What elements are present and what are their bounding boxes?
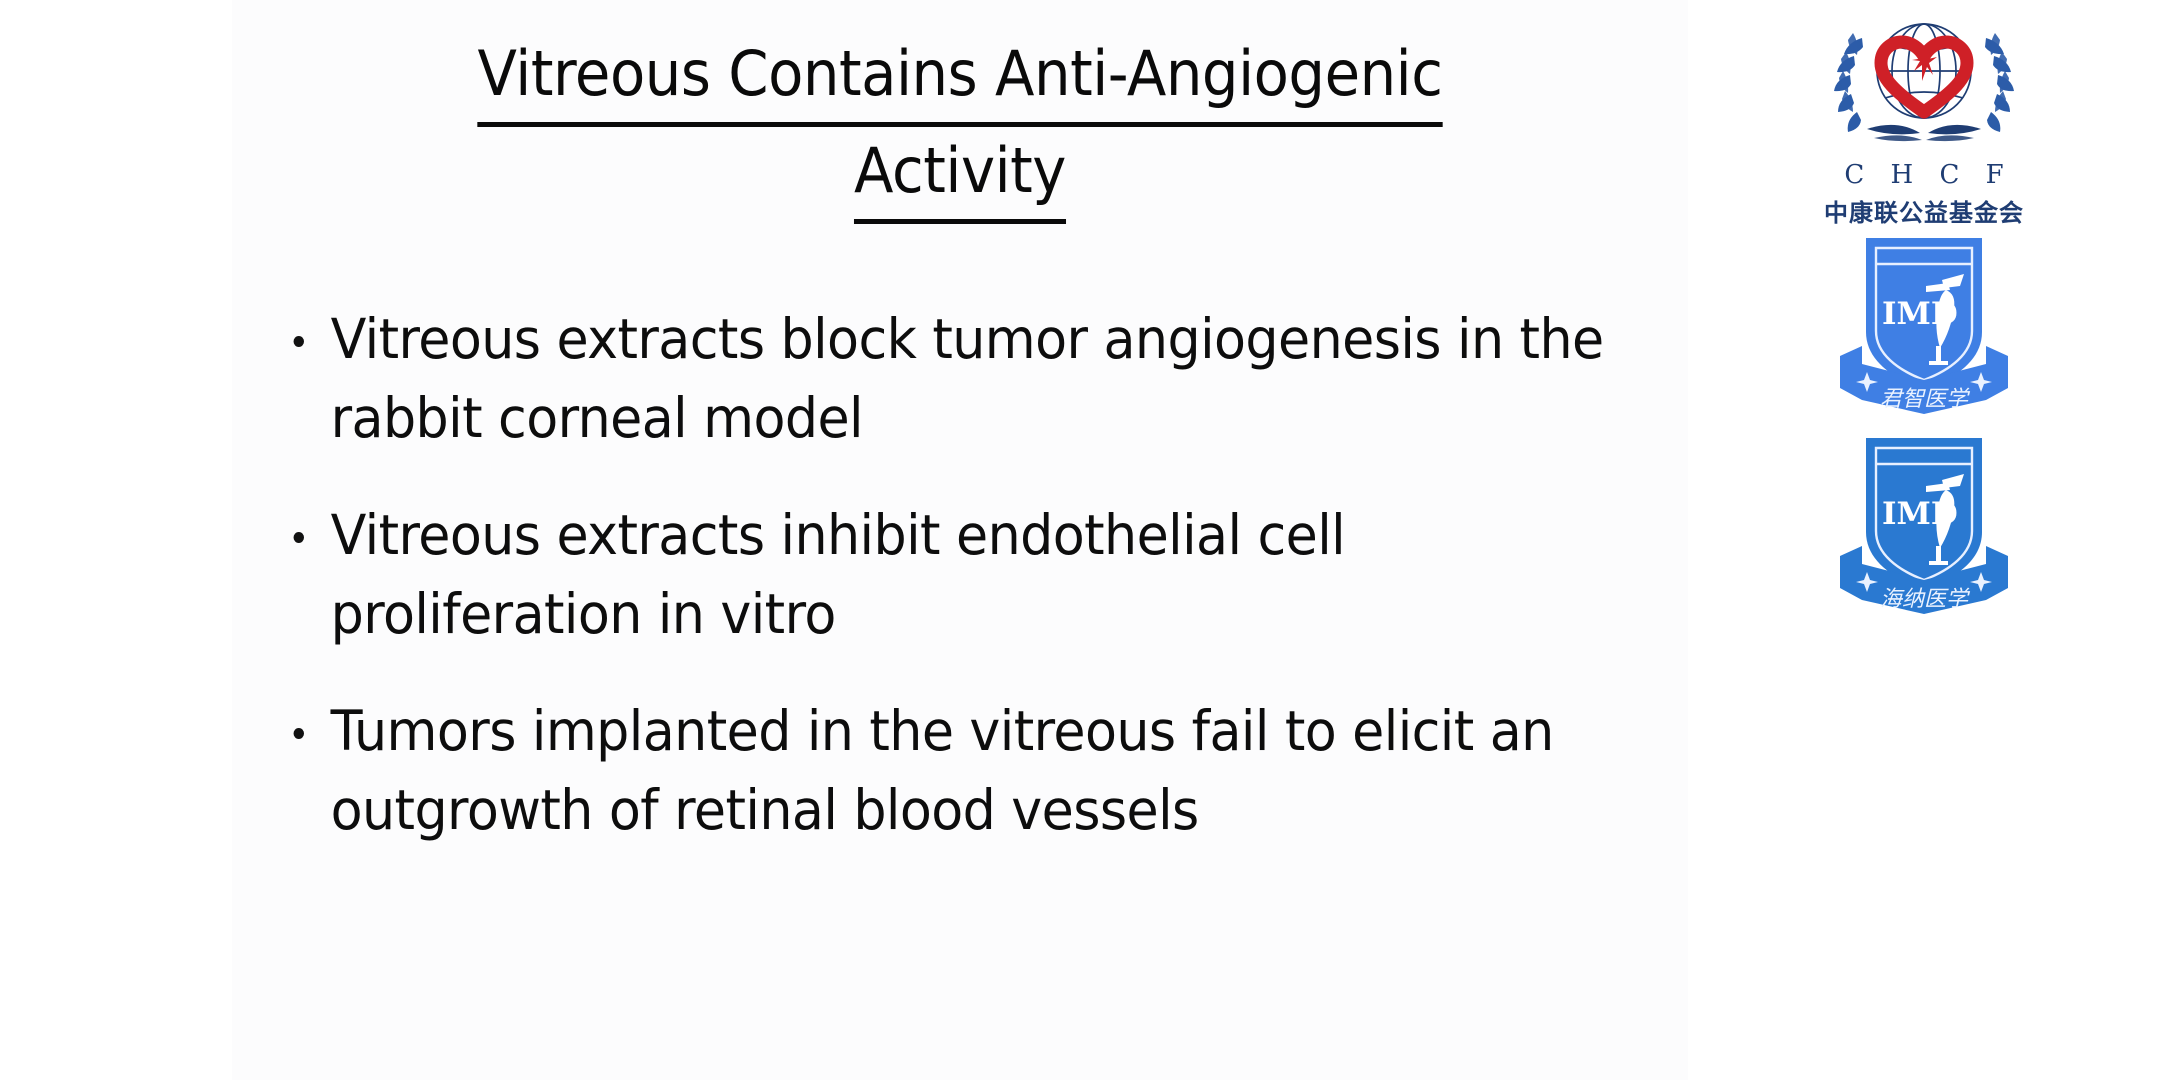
slide-stage: Vitreous Contains Anti-Angiogenic Activi…	[0, 0, 2160, 1080]
logo-imd-chinese-2: 海纳医学	[1880, 587, 1971, 612]
bullet-dot-icon	[294, 532, 304, 543]
title-line-1-text: Vitreous Contains Anti-Angiogenic	[478, 30, 1443, 127]
logo-imd-junzhi: IMD 君智医学	[1688, 228, 2160, 418]
bullet-list: Vitreous extracts block tumor angiogenes…	[285, 300, 1685, 850]
logo-rail: C H C F 中康联公益基金会 IMD	[1688, 0, 2160, 1080]
logo-imd-chinese-1: 君智医学	[1880, 387, 1971, 412]
logo-chcf: C H C F 中康联公益基金会	[1688, 8, 2160, 228]
list-item-label: Tumors implanted in the vitreous fail to…	[331, 692, 1615, 850]
list-item-label: Vitreous extracts inhibit endothelial ce…	[331, 496, 1615, 654]
list-item-label: Vitreous extracts block tumor angiogenes…	[331, 300, 1615, 458]
list-item: Tumors implanted in the vitreous fail to…	[285, 692, 1615, 850]
title-line-2-text: Activity	[854, 127, 1066, 224]
imd-shield-icon: IMD 君智医学	[1836, 228, 2012, 418]
globe-heart-laurel-icon	[1829, 8, 2019, 158]
logo-imd-haina: IMD 海纳医学	[1688, 428, 2160, 618]
logo-chcf-abbr: C H C F	[1835, 160, 2012, 190]
imd-shield-icon: IMD 海纳医学	[1836, 428, 2012, 618]
title-line-1: Vitreous Contains Anti-Angiogenic	[283, 30, 1637, 127]
list-item: Vitreous extracts inhibit endothelial ce…	[285, 496, 1615, 654]
page-title: Vitreous Contains Anti-Angiogenic Activi…	[232, 30, 1688, 224]
bullet-dot-icon	[294, 728, 304, 739]
bullet-dot-icon	[294, 336, 304, 347]
logo-chcf-chinese: 中康联公益基金会	[1824, 193, 2024, 228]
list-item: Vitreous extracts block tumor angiogenes…	[285, 300, 1615, 458]
title-line-2: Activity	[283, 127, 1637, 224]
